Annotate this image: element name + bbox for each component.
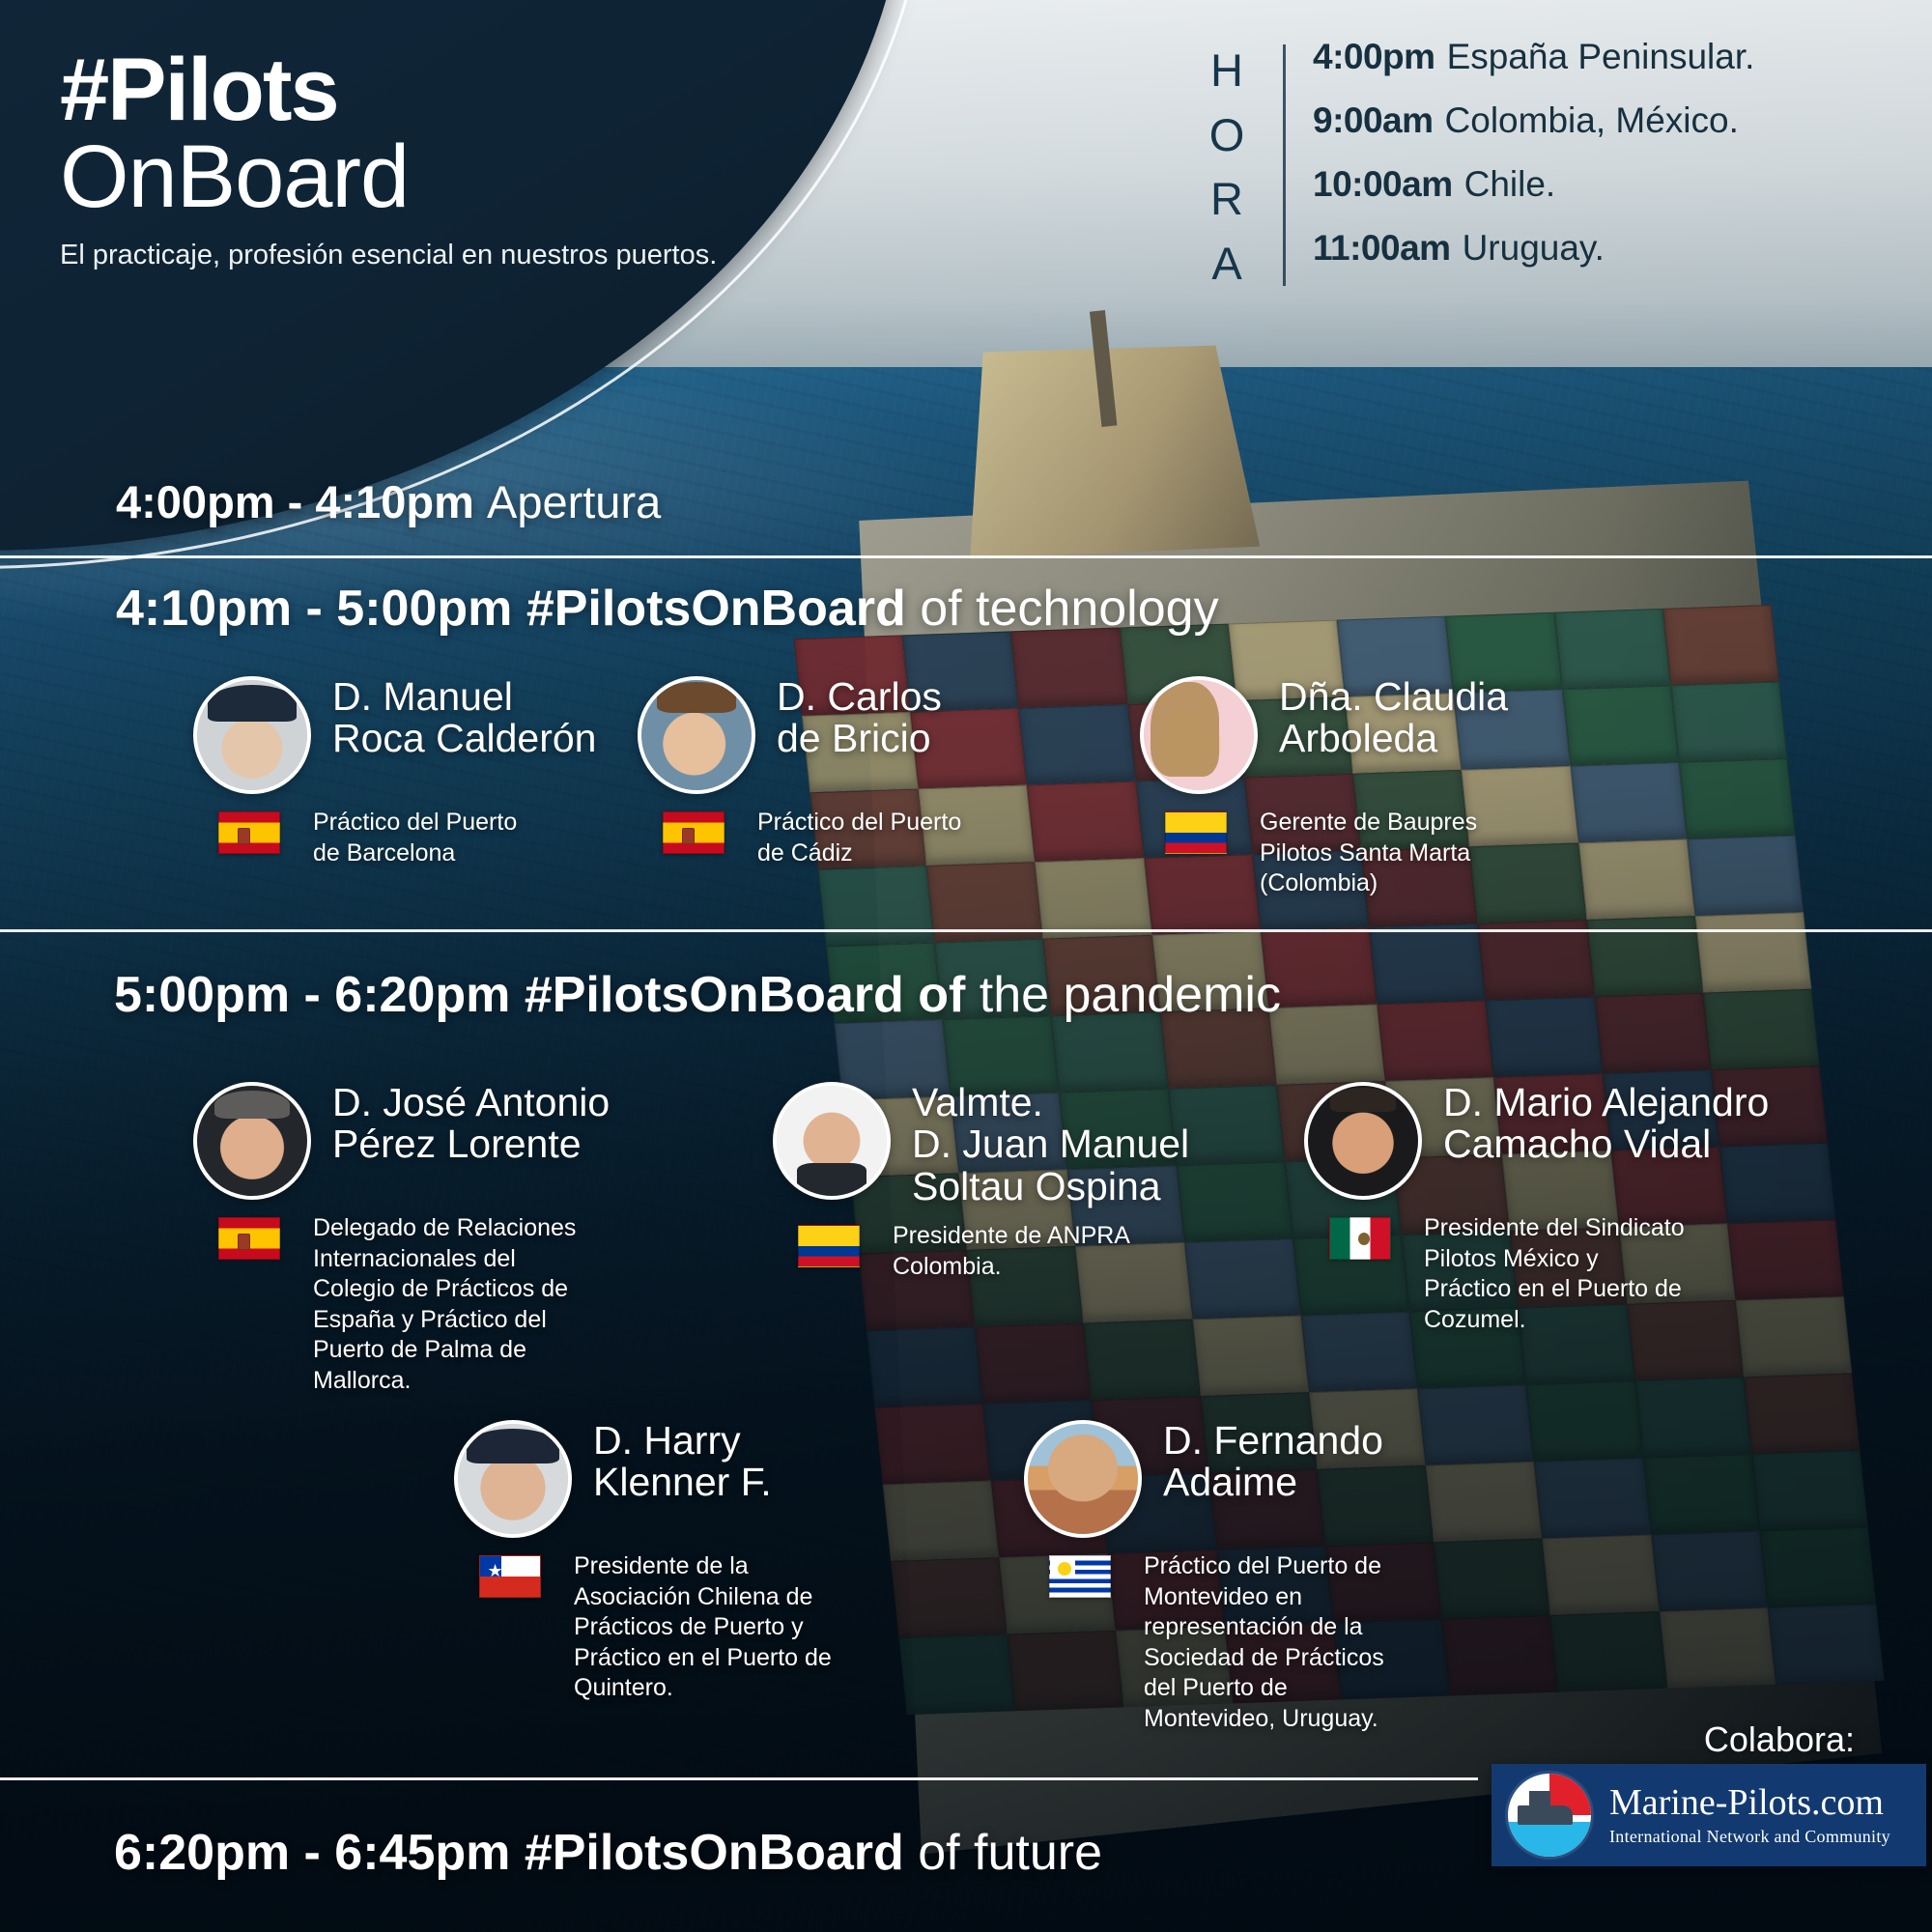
session-label: the pandemic — [980, 967, 1281, 1023]
avatar-cap — [467, 1429, 559, 1463]
hora-letter: A — [1198, 232, 1258, 297]
title-line-2: OnBoard — [60, 133, 755, 220]
hora-time: 10:00am — [1313, 166, 1453, 202]
hora-block: H O R A 4:00pm España Peninsular. 9:00am… — [1198, 39, 1754, 297]
avatar-hair — [1151, 682, 1219, 777]
avatar — [193, 676, 311, 794]
section-divider — [0, 1777, 1478, 1780]
hora-row: 9:00am Colombia, México. — [1313, 102, 1754, 166]
speaker-name: D. Manuel Roca Calderón — [332, 676, 597, 760]
speaker-name: D. Mario Alejandro Camacho Vidal — [1443, 1082, 1769, 1166]
avatar-cap — [208, 685, 296, 723]
speaker-role: Gerente de Baupres Pilotos Santa Marta (… — [1260, 808, 1477, 899]
avatar — [454, 1420, 572, 1538]
speaker-meta: Gerente de Baupres Pilotos Santa Marta (… — [1140, 808, 1623, 899]
session-label: Apertura — [487, 476, 661, 527]
logo-name: Marine-Pilots.com — [1609, 1784, 1890, 1821]
session-time: 4:10pm - 5:00pm — [116, 581, 512, 637]
flag-icon-es — [663, 811, 724, 854]
speaker-card: D. José Antonio Pérez Lorente Delegado d… — [193, 1082, 647, 1396]
speaker-role: Práctico del Puerto de Montevideo en rep… — [1144, 1551, 1384, 1734]
session-title-apertura: 4:00pm - 4:10pm Apertura — [116, 475, 661, 528]
speaker-header: D. Mario Alejandro Camacho Vidal — [1304, 1082, 1806, 1200]
avatar-hair — [657, 682, 736, 713]
speaker-name: D. Carlos de Bricio — [777, 676, 942, 760]
avatar — [1024, 1420, 1142, 1538]
infographic-poster: #Pilots OnBoard El practicaje, profesión… — [0, 0, 1932, 1932]
hora-letter: H — [1198, 39, 1258, 103]
avatar-face-shape — [1048, 1435, 1119, 1503]
hora-row: 4:00pm España Peninsular. — [1313, 39, 1754, 102]
speaker-meta: Presidente de ANPRA Colombia. — [773, 1221, 1227, 1282]
speaker-role: Presidente de la Asociación Chilena de P… — [574, 1551, 832, 1704]
speaker-card: D. Mario Alejandro Camacho Vidal Preside… — [1304, 1082, 1806, 1335]
section-divider — [0, 555, 1932, 558]
speaker-card: Dña. Claudia Arboleda Gerente de Baupres… — [1140, 676, 1623, 899]
speaker-role: Presidente de ANPRA Colombia. — [893, 1221, 1130, 1282]
speaker-role: Presidente del Sindicato Pilotos México … — [1424, 1213, 1685, 1335]
session-title-technology: 4:10pm - 5:00pm #PilotsOnBoard of techno… — [116, 580, 1219, 638]
speaker-name: Valmte. D. Juan Manuel Soltau Ospina — [912, 1082, 1189, 1207]
speaker-card: D. Manuel Roca Calderón Práctico del Pue… — [193, 676, 676, 868]
session-title-pandemic: 5:00pm - 6:20pm #PilotsOnBoard of the pa… — [114, 966, 1281, 1024]
speaker-card: D. Carlos de Bricio Práctico del Puerto … — [638, 676, 1092, 868]
tagline: El practicaje, profesión esencial en nue… — [60, 238, 755, 273]
avatar-suit — [797, 1163, 867, 1196]
speaker-name: D. José Antonio Pérez Lorente — [332, 1082, 610, 1166]
session-time: 6:20pm - 6:45pm — [114, 1825, 510, 1881]
hora-label: H O R A — [1198, 39, 1283, 297]
speaker-meta: Práctico del Puerto de Montevideo en rep… — [1024, 1551, 1478, 1734]
speaker-name: D. Harry Klenner F. — [593, 1420, 772, 1504]
avatar — [773, 1082, 891, 1200]
hora-zone: Uruguay. — [1463, 230, 1605, 266]
session-hashtag: #PilotsOnBoard — [526, 581, 906, 637]
speaker-header: D. Fernando Adaime — [1024, 1420, 1478, 1538]
flag-star-icon: ★ — [487, 1562, 502, 1579]
speaker-card: D. Harry Klenner F. ★ Presidente de la A… — [454, 1420, 908, 1704]
speaker-header: D. Harry Klenner F. — [454, 1420, 908, 1538]
section-divider — [0, 929, 1932, 932]
hora-time: 9:00am — [1313, 102, 1434, 138]
title-line-1: #Pilots — [60, 41, 338, 139]
flag-icon-cl: ★ — [479, 1555, 541, 1598]
speaker-meta: Práctico del Puerto de Cádiz — [638, 808, 1092, 868]
hora-zone: España Peninsular. — [1447, 39, 1755, 74]
avatar — [1304, 1082, 1422, 1200]
logo-boat-icon — [1518, 1805, 1573, 1826]
session-hashtag: #PilotsOnBoard of — [525, 967, 965, 1023]
marine-pilots-logo-icon — [1505, 1771, 1594, 1860]
hora-zone: Colombia, México. — [1445, 102, 1739, 138]
hora-row: 11:00am Uruguay. — [1313, 230, 1754, 294]
flag-icon-co — [798, 1225, 860, 1267]
speaker-role: Práctico del Puerto de Cádiz — [757, 808, 961, 868]
speaker-name: D. Fernando Adaime — [1163, 1420, 1383, 1504]
speaker-meta: Delegado de Relaciones Internacionales d… — [193, 1213, 647, 1396]
avatar-hair — [214, 1091, 290, 1120]
avatar-hair — [1330, 1088, 1396, 1112]
brand-block: #Pilots OnBoard El practicaje, profesión… — [60, 46, 755, 273]
hora-letter: O — [1198, 103, 1258, 168]
speaker-header: D. Carlos de Bricio — [638, 676, 1092, 794]
hora-timezone-list: 4:00pm España Peninsular. 9:00am Colombi… — [1313, 39, 1754, 294]
hora-time: 11:00am — [1313, 230, 1451, 266]
colabora-label: Colabora: — [1704, 1719, 1855, 1760]
avatar — [1140, 676, 1258, 794]
session-title-future: 6:20pm - 6:45pm #PilotsOnBoard of future — [114, 1824, 1102, 1882]
session-time: 4:00pm - 4:10pm — [116, 476, 474, 527]
session-label: of future — [918, 1825, 1102, 1881]
flag-icon-es — [218, 1217, 280, 1260]
flag-icon-uy — [1049, 1555, 1111, 1598]
logo-water — [1508, 1822, 1591, 1857]
logo-subtitle: International Network and Community — [1609, 1827, 1890, 1847]
speaker-meta: Práctico del Puerto de Barcelona — [193, 808, 676, 868]
session-label: of technology — [920, 581, 1218, 637]
hora-zone: Chile. — [1464, 166, 1556, 202]
page-title: #Pilots OnBoard — [60, 46, 755, 220]
speaker-meta: ★ Presidente de la Asociación Chilena de… — [454, 1551, 908, 1704]
speaker-header: D. José Antonio Pérez Lorente — [193, 1082, 647, 1200]
hora-time: 4:00pm — [1313, 39, 1435, 74]
speaker-header: Dña. Claudia Arboleda — [1140, 676, 1623, 794]
speaker-name: Dña. Claudia Arboleda — [1279, 676, 1508, 760]
flag-icon-co — [1165, 811, 1227, 854]
session-hashtag: #PilotsOnBoard — [525, 1825, 904, 1881]
flag-icon-mx — [1329, 1217, 1391, 1260]
hora-divider — [1283, 44, 1286, 286]
speaker-header: D. Manuel Roca Calderón — [193, 676, 676, 794]
hora-letter: R — [1198, 167, 1258, 232]
avatar — [638, 676, 755, 794]
hora-row: 10:00am Chile. — [1313, 166, 1754, 230]
partner-logo[interactable]: Marine-Pilots.com International Network … — [1492, 1764, 1926, 1866]
speaker-card: D. Fernando Adaime Práctico del Puerto d… — [1024, 1420, 1478, 1734]
speaker-card: Valmte. D. Juan Manuel Soltau Ospina Pre… — [773, 1082, 1227, 1282]
avatar — [193, 1082, 311, 1200]
flag-icon-es — [218, 811, 280, 854]
speaker-role: Delegado de Relaciones Internacionales d… — [313, 1213, 576, 1396]
logo-text: Marine-Pilots.com International Network … — [1609, 1784, 1890, 1847]
speaker-role: Práctico del Puerto de Barcelona — [313, 808, 517, 868]
session-time: 5:00pm - 6:20pm — [114, 967, 510, 1023]
speaker-meta: Presidente del Sindicato Pilotos México … — [1304, 1213, 1806, 1335]
speaker-header: Valmte. D. Juan Manuel Soltau Ospina — [773, 1082, 1227, 1207]
